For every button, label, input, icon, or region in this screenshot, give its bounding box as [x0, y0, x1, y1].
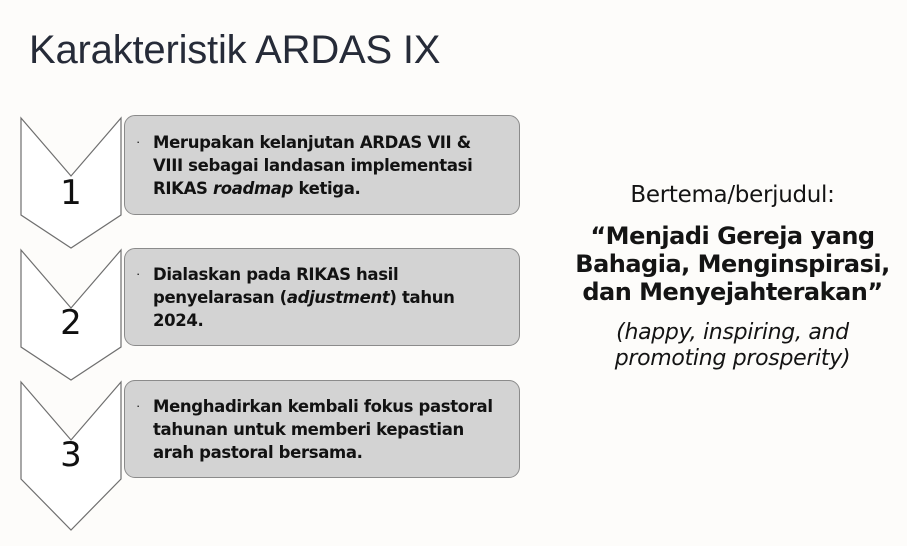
theme-quote-line-1: “Menjadi Gereja yang — [558, 222, 907, 250]
slide-canvas: Karakteristik ARDAS IX 1 · Merupakan kel… — [0, 0, 907, 546]
step-number-3: 3 — [21, 438, 121, 472]
bullet-icon-1: · — [134, 131, 153, 153]
step-box-3[interactable]: · Menghadirkan kembali fokus pastoral ta… — [124, 380, 520, 478]
theme-quote-line-2: Bahagia, Menginspirasi, — [558, 250, 907, 278]
theme-quote-line-3: dan Menyejahterakan” — [558, 278, 907, 306]
step-text-3: Menghadirkan kembali fokus pastoral tahu… — [153, 395, 505, 464]
theme-translation: (happy, inspiring, and promoting prosper… — [558, 320, 907, 372]
step-number-2: 2 — [21, 306, 121, 340]
theme-translation-line-1: (happy, inspiring, and — [558, 320, 907, 346]
page-title: Karakteristik ARDAS IX — [29, 28, 440, 72]
bullet-icon-2: · — [134, 263, 153, 285]
theme-label: Bertema/berjudul: — [558, 182, 907, 210]
bullet-icon-3: · — [134, 395, 153, 417]
step-number-1: 1 — [21, 176, 121, 210]
theme-quote: “Menjadi Gereja yang Bahagia, Menginspir… — [558, 222, 907, 306]
theme-translation-line-2: promoting prosperity) — [558, 346, 907, 372]
step-text-2: Dialaskan pada RIKAS hasil penyelarasan … — [153, 263, 505, 332]
theme-panel: Bertema/berjudul: “Menjadi Gereja yang B… — [558, 182, 907, 372]
step-box-2[interactable]: · Dialaskan pada RIKAS hasil penyelarasa… — [124, 248, 520, 346]
step-box-1[interactable]: · Merupakan kelanjutan ARDAS VII & VIII … — [124, 115, 520, 215]
step-text-1: Merupakan kelanjutan ARDAS VII & VIII se… — [153, 131, 505, 200]
